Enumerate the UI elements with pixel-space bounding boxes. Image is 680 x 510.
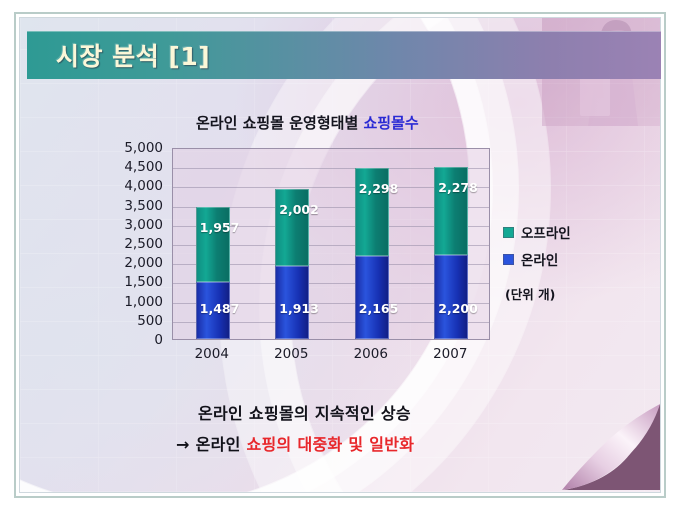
bar-2007[interactable]: 2,2782,200 [434, 167, 468, 339]
slide-title-bar: 시장 분석 [1] [27, 31, 661, 79]
bar-segment-online[interactable]: 1,913 [275, 266, 309, 339]
bar-segment-online[interactable]: 2,200 [434, 255, 468, 339]
x-axis: 2004200520062007 [172, 344, 490, 366]
conclusion-line-2: → 온라인 쇼핑의 대중화 및 일반화 [176, 431, 556, 455]
bar-segment-online[interactable]: 1,487 [196, 282, 230, 339]
conclusion-line-2-prefix: → 온라인 [176, 435, 247, 454]
chart-legend: 오프라인온라인 [503, 222, 623, 276]
conclusion-line-2-highlight: 쇼핑의 대중화 및 일반화 [247, 435, 415, 454]
bar-segment-offline[interactable]: 1,957 [196, 207, 230, 282]
y-axis-tick: 5,000 [124, 141, 163, 155]
bar-2004[interactable]: 1,9571,487 [196, 207, 230, 339]
legend-item-1[interactable]: 온라인 [503, 249, 623, 269]
bar-value-online: 2,200 [438, 301, 478, 316]
chart-title: 온라인 쇼핑몰 운영형태별 쇼핑몰수 [196, 112, 419, 133]
chart-title-highlight: 쇼핑몰수 [363, 114, 418, 132]
y-axis-tick: 500 [137, 314, 163, 328]
plot-area: 1,9571,4872,0021,9132,2982,1652,2782,200 [172, 148, 490, 340]
y-axis-tick: 4,000 [124, 179, 163, 193]
y-axis: 5,0004,5004,0003,5003,0002,5002,0001,500… [96, 144, 168, 340]
x-axis-tick-2007: 2007 [415, 346, 485, 362]
y-axis-tick: 2,000 [124, 256, 163, 270]
x-axis-tick-2004: 2004 [177, 346, 247, 362]
legend-item-0[interactable]: 오프라인 [503, 222, 623, 242]
bar-segment-online[interactable]: 2,165 [355, 256, 389, 339]
bar-segment-offline[interactable]: 2,278 [434, 167, 468, 254]
slide-canvas: 시장 분석 [1] 온라인 쇼핑몰 운영형태별 쇼핑몰수 5,0004,5004… [0, 0, 680, 510]
y-axis-tick: 2,500 [124, 237, 163, 251]
chart-unit-note: (단위 개) [505, 284, 555, 303]
x-axis-tick-2005: 2005 [256, 346, 326, 362]
y-axis-tick: 3,000 [124, 218, 163, 232]
legend-swatch-icon [503, 227, 514, 238]
conclusion-line-1: 온라인 쇼핑몰의 지속적인 상승 [198, 400, 556, 424]
y-axis-tick: 4,500 [124, 160, 163, 174]
bar-value-offline: 2,298 [359, 181, 399, 196]
bar-segment-offline[interactable]: 2,002 [275, 189, 309, 266]
legend-swatch-icon [503, 254, 514, 265]
bar-2006[interactable]: 2,2982,165 [355, 168, 389, 339]
chart-title-plain: 온라인 쇼핑몰 운영형태별 [196, 114, 363, 132]
y-axis-tick: 1,000 [124, 295, 163, 309]
y-axis-tick: 3,500 [124, 199, 163, 213]
bar-value-online: 1,487 [200, 301, 240, 316]
bar-segment-offline[interactable]: 2,298 [355, 168, 389, 256]
conclusion-block: 온라인 쇼핑몰의 지속적인 상승 → 온라인 쇼핑의 대중화 및 일반화 [176, 400, 556, 455]
y-axis-tick: 1,500 [124, 275, 163, 289]
chart-container: 5,0004,5004,0003,5003,0002,5002,0001,500… [96, 144, 496, 344]
x-axis-tick-2006: 2006 [336, 346, 406, 362]
bar-value-offline: 1,957 [200, 220, 240, 235]
bar-value-offline: 2,002 [279, 202, 319, 217]
legend-label: 온라인 [521, 249, 558, 269]
page-title: 시장 분석 [1] [56, 37, 210, 73]
bar-value-online: 1,913 [279, 301, 319, 316]
y-axis-tick: 0 [154, 333, 163, 347]
legend-label: 오프라인 [521, 222, 571, 242]
bar-value-offline: 2,278 [438, 180, 478, 195]
bar-2005[interactable]: 2,0021,913 [275, 189, 309, 339]
bar-value-online: 2,165 [359, 301, 399, 316]
